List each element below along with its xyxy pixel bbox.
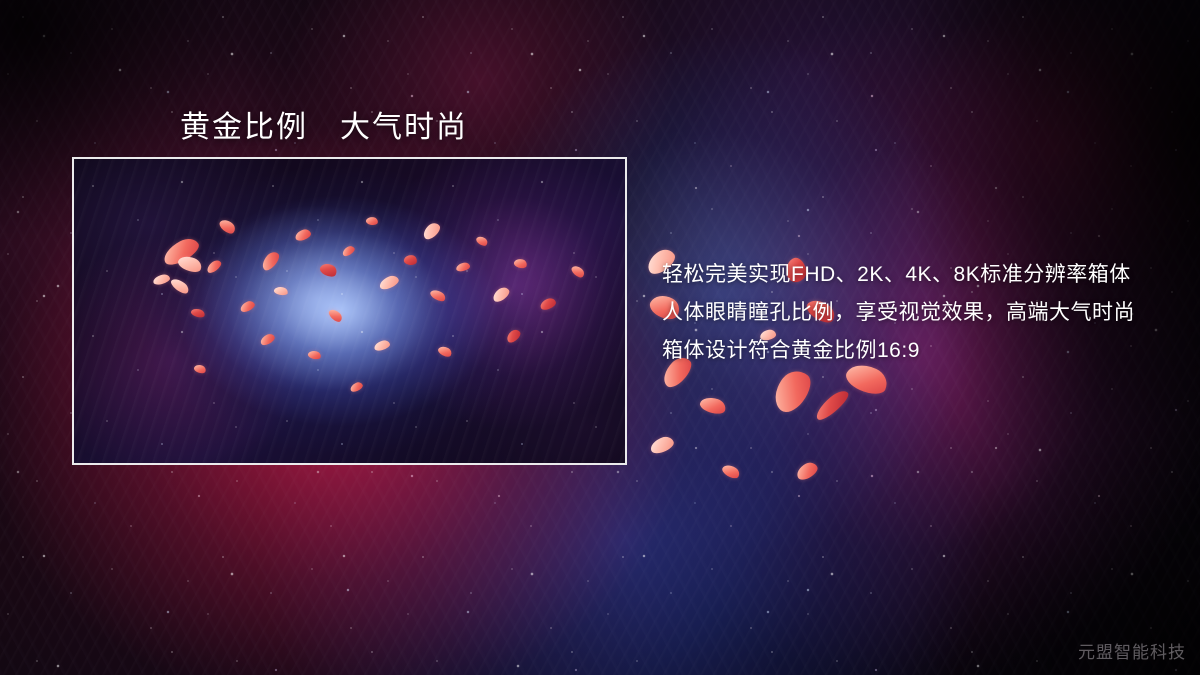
watermark: 元盟智能科技 (1078, 638, 1186, 663)
frame-filaments (74, 159, 625, 463)
presentation-slide: 黄金比例 大气时尚 (0, 0, 1200, 675)
body-line: 轻松完美实现FHD、2K、4K、8K标准分辨率箱体 (662, 256, 1135, 294)
body-line: 人体眼睛瞳孔比例，享受视觉效果，高端大气时尚 (662, 294, 1135, 332)
slide-title: 黄金比例 大气时尚 (180, 102, 468, 146)
body-line: 箱体设计符合黄金比例16:9 (662, 332, 1135, 370)
framed-image (72, 157, 627, 465)
body-text: 轻松完美实现FHD、2K、4K、8K标准分辨率箱体 人体眼睛瞳孔比例，享受视觉效… (662, 256, 1135, 370)
